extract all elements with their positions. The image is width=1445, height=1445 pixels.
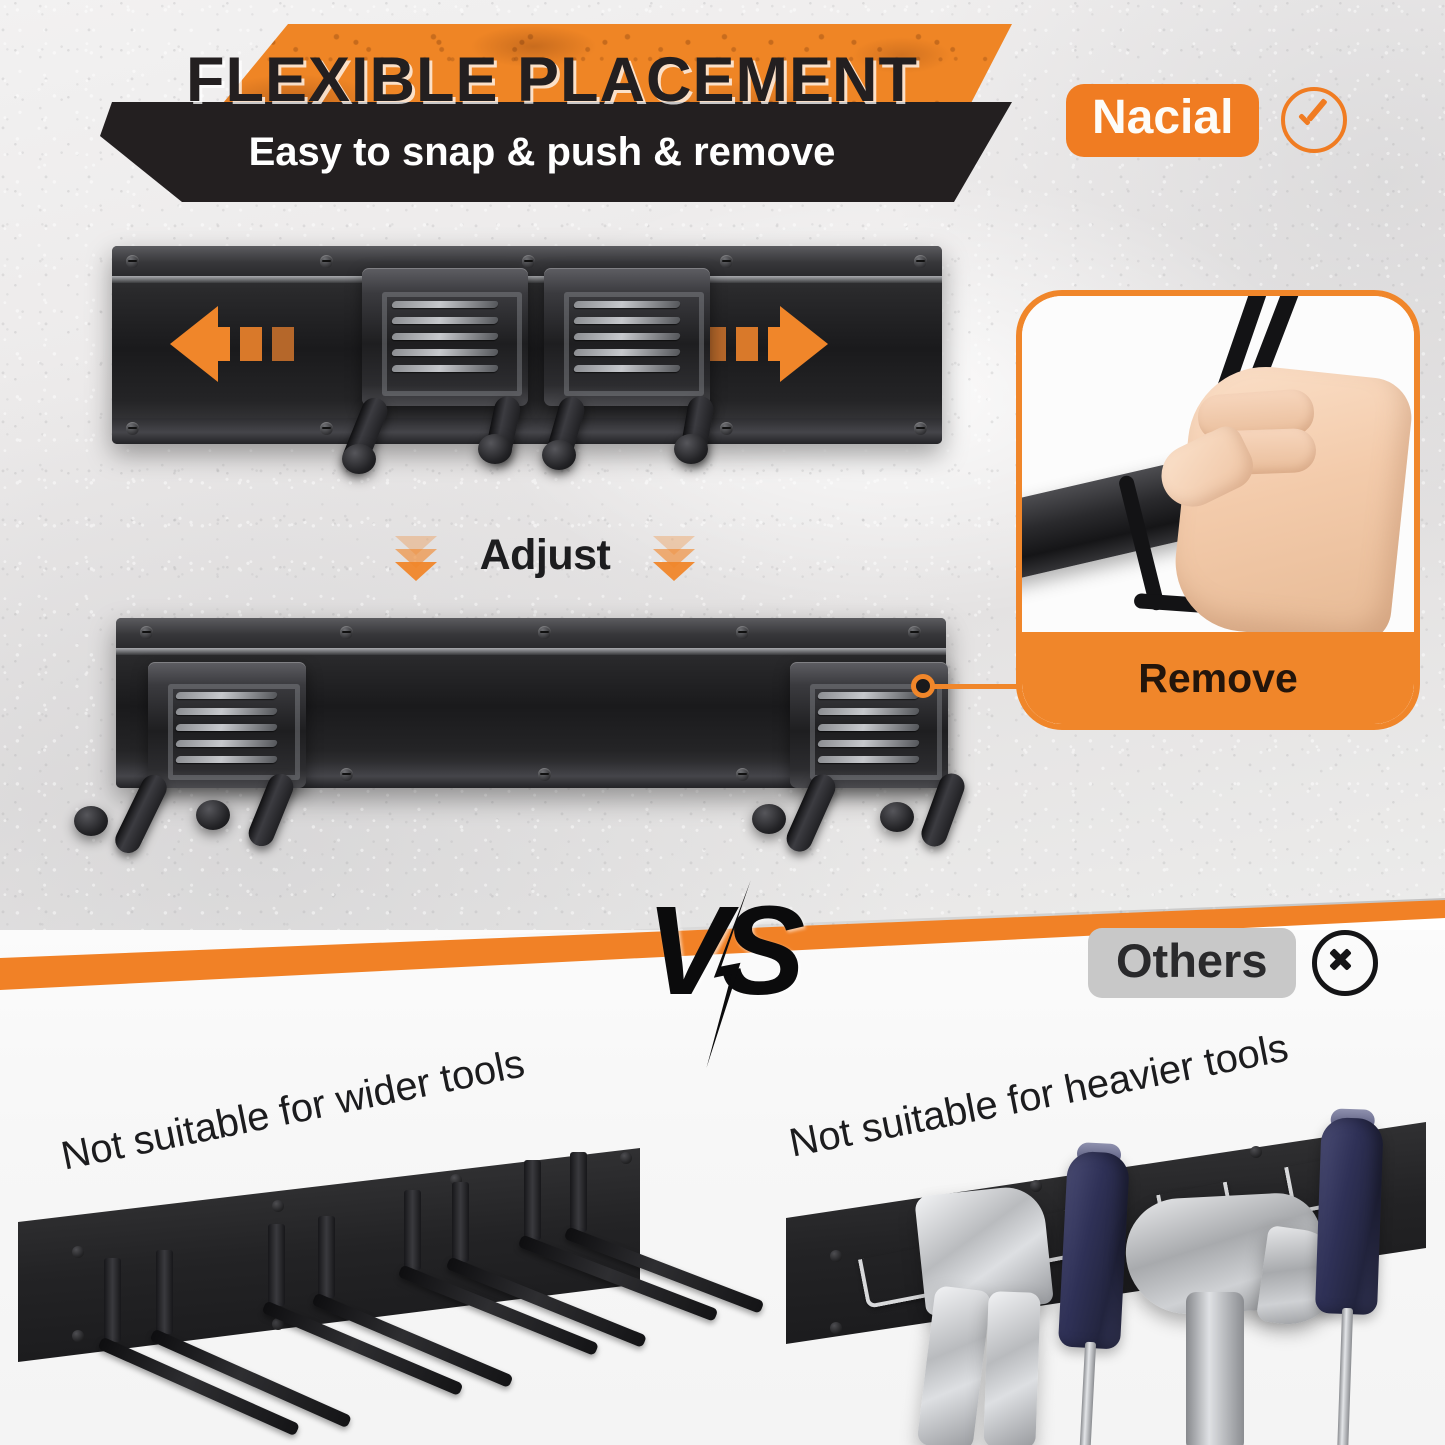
- pliers-handle: [983, 1291, 1040, 1445]
- rail-screw: [320, 422, 333, 435]
- hook-assembly[interactable]: [544, 268, 710, 406]
- hook-frame: [161, 677, 308, 787]
- callout-connector-dot: [911, 674, 935, 698]
- rail-screw: [914, 422, 927, 435]
- hook-tip: [478, 434, 512, 464]
- rack-screw: [830, 1322, 842, 1334]
- rail-screw: [126, 255, 139, 268]
- rack-screw: [1250, 1146, 1262, 1158]
- rail-screw: [340, 768, 353, 781]
- hook-frame: [557, 285, 710, 404]
- adjust-label: Adjust: [480, 531, 611, 580]
- screwdriver-tool: [1310, 1117, 1383, 1445]
- hook-assembly[interactable]: [362, 268, 528, 406]
- rack-prong-upright: [318, 1216, 335, 1298]
- remove-callout-panel: Remove: [1016, 290, 1420, 730]
- rack-prong-upright: [404, 1190, 421, 1270]
- rail-screw: [736, 768, 749, 781]
- rail-bottom-lip: [112, 418, 942, 444]
- hook-tip: [880, 802, 914, 832]
- rack-screw: [72, 1330, 84, 1342]
- versus-graphic: VS: [646, 884, 856, 1074]
- rail-highlight: [116, 648, 946, 655]
- rack-prong-upright: [570, 1152, 587, 1232]
- rail-screw: [340, 626, 353, 639]
- brand-name: Nacial: [1066, 84, 1259, 157]
- rack-screw: [72, 1246, 84, 1258]
- rack-prong-upright: [268, 1224, 285, 1306]
- banner-subtitle: Easy to snap & push & remove: [92, 110, 992, 194]
- rail-screw: [736, 626, 749, 639]
- hook-tip: [74, 806, 108, 836]
- versus-label: VS: [646, 878, 796, 1023]
- hook-assembly[interactable]: [148, 662, 306, 788]
- headline-banner: FLEXIBLE PLACEMENT Easy to snap & push &…: [92, 24, 1012, 202]
- chevron-down-icon: [653, 536, 695, 575]
- callout-connector-line: [929, 684, 1021, 689]
- chevron-down-icon: [395, 536, 437, 575]
- hook-frame: [375, 285, 528, 404]
- product-infographic: FLEXIBLE PLACEMENT Easy to snap & push &…: [0, 0, 1445, 1445]
- rail-screw: [538, 626, 551, 639]
- others-name: Others: [1088, 928, 1296, 998]
- hook-tip: [542, 440, 576, 470]
- remove-label: Remove: [1138, 655, 1298, 702]
- rack-prong-upright: [524, 1160, 541, 1240]
- rail-screw: [538, 768, 551, 781]
- rack-prong-upright: [452, 1182, 469, 1262]
- rail-screw: [908, 626, 921, 639]
- screwdriver-shaft: [1337, 1308, 1353, 1445]
- rack-screw: [272, 1200, 284, 1212]
- others-badge: Others: [1088, 928, 1378, 998]
- rail-screw: [720, 422, 733, 435]
- rack-screw: [620, 1152, 632, 1164]
- rail-screw: [126, 422, 139, 435]
- rail-screw: [720, 255, 733, 268]
- hook-tip: [752, 804, 786, 834]
- rail-screw: [522, 255, 535, 268]
- rack-screw: [1030, 1180, 1042, 1192]
- arrow-right-icon: [704, 306, 828, 382]
- check-circle-icon: [1281, 87, 1347, 153]
- screwdriver-handle: [1058, 1151, 1130, 1350]
- rack-screw: [830, 1250, 842, 1262]
- hook-tip: [342, 444, 376, 474]
- hook-tip: [674, 434, 708, 464]
- rail-screw: [914, 255, 927, 268]
- adjust-indicator: Adjust: [395, 505, 695, 605]
- rail-top-lip: [116, 618, 946, 648]
- rail-screw: [140, 626, 153, 639]
- x-circle-icon: [1312, 930, 1378, 996]
- hammer-handle: [1186, 1292, 1244, 1445]
- hook-tip: [196, 800, 230, 830]
- rail-screw: [320, 255, 333, 268]
- remove-label-bar: Remove: [1022, 632, 1414, 724]
- remove-photo: [1022, 296, 1414, 636]
- screwdriver-shaft: [1079, 1342, 1096, 1445]
- brand-badge: Nacial: [1066, 84, 1347, 157]
- screwdriver-handle: [1315, 1117, 1384, 1315]
- rack-prong-upright: [156, 1250, 173, 1334]
- rack-prong-upright: [104, 1258, 121, 1342]
- arrow-left-icon: [170, 306, 294, 382]
